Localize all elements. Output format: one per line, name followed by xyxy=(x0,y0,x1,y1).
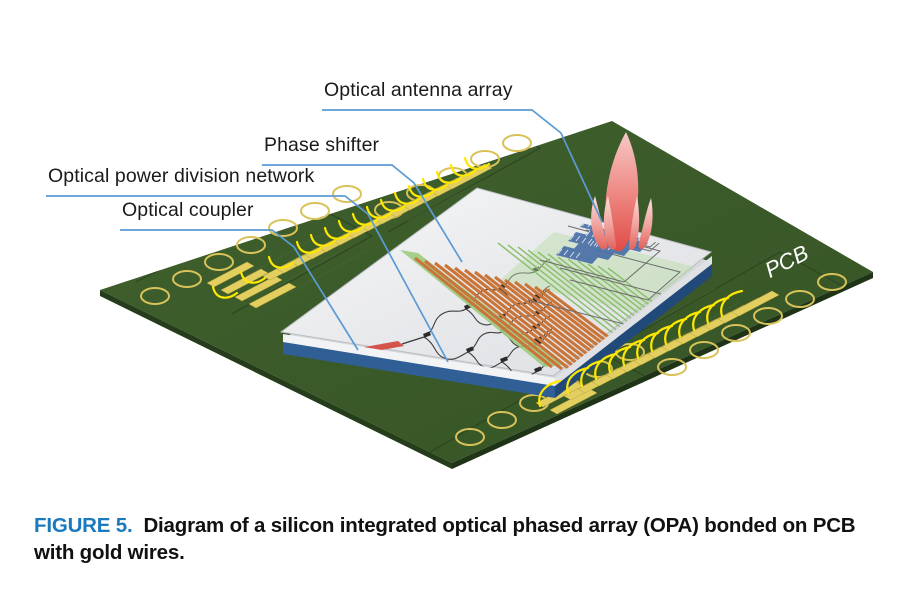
figure-page: PCB xyxy=(0,0,919,597)
figure-caption-text: Diagram of a silicon integrated optical … xyxy=(34,514,855,564)
callout-optical-antenna-array-text: Optical antenna array xyxy=(322,80,515,103)
callout-optical-power-division-network-text: Optical power division network xyxy=(46,166,316,189)
callout-phase-shifter-text: Phase shifter xyxy=(262,135,381,158)
callout-optical-coupler: Optical coupler xyxy=(120,200,256,223)
callout-phase-shifter: Phase shifter xyxy=(262,135,381,158)
callout-optical-antenna-array: Optical antenna array xyxy=(322,80,515,103)
figure-caption: FIGURE 5. Diagram of a silicon integrate… xyxy=(34,513,894,566)
callout-optical-coupler-text: Optical coupler xyxy=(120,200,256,223)
figure-number: FIGURE 5. xyxy=(34,514,132,537)
figure-illustration: PCB xyxy=(0,0,919,500)
callout-optical-power-division-network: Optical power division network xyxy=(46,166,316,189)
opa-pcb-diagram-svg: PCB xyxy=(0,0,919,500)
